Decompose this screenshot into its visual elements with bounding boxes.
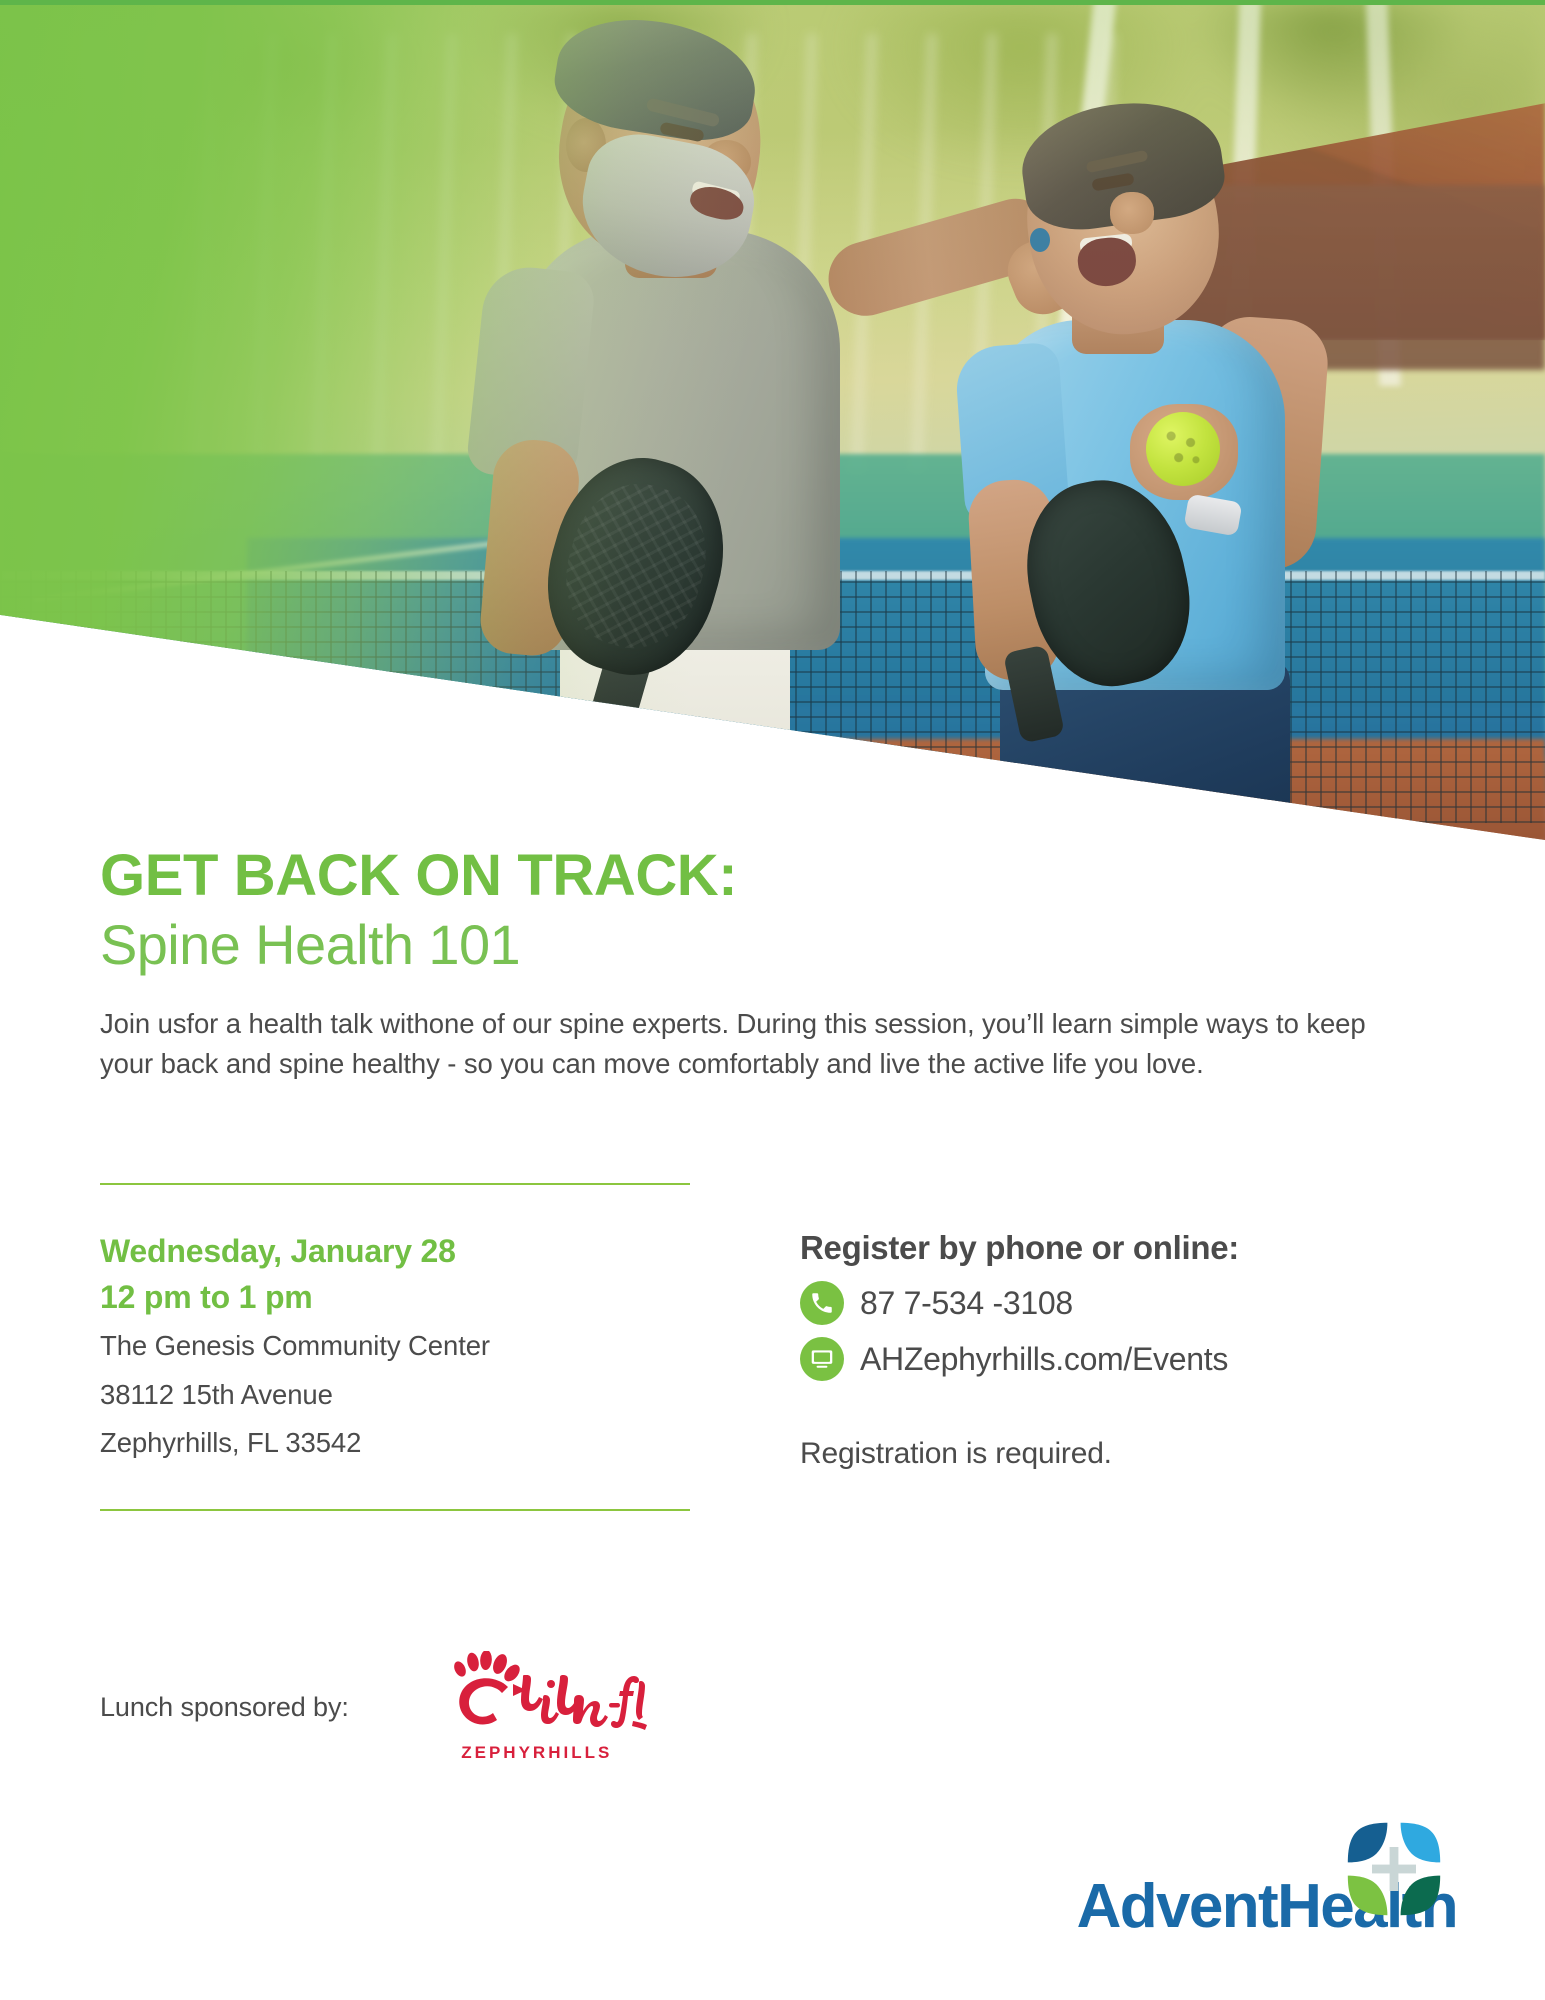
register-phone-row[interactable]: 87 7-534 -3108 [800,1281,1545,1325]
details-columns: Wednesday, January 28 12 pm to 1 pm The … [0,1229,1545,1471]
page-title: GET BACK ON TRACK: [100,820,1445,905]
adventhealth-logo: AdventHealth [1077,1876,1457,1938]
event-street: 38112 15th Avenue [100,1373,760,1418]
hero-photo [0,0,1545,840]
register-website-url[interactable]: AHZephyrhills.com/Events [860,1341,1228,1378]
event-date: Wednesday, January 28 [100,1229,760,1274]
registration-details: Register by phone or online: 87 7-534 -3… [760,1229,1545,1471]
sponsor-label: Lunch sponsored by: [100,1692,349,1723]
chick-fil-a-logo: ZEPHYRHILLS [427,1651,647,1763]
flyer-page: GET BACK ON TRACK: Spine Health 101 Join… [0,0,1545,2000]
description-paragraph: Join usfor a health talk withone of our … [100,1004,1420,1084]
content-area: GET BACK ON TRACK: Spine Health 101 Join… [0,820,1545,1763]
sponsor-section: Lunch sponsored by: [0,1651,1545,1763]
hero-image [0,0,1545,840]
register-website-row[interactable]: AHZephyrhills.com/Events [800,1337,1545,1381]
divider-bottom [100,1509,690,1511]
monitor-icon [800,1337,844,1381]
event-venue: The Genesis Community Center [100,1324,760,1369]
divider-top [100,1183,690,1185]
woman-nose [1110,192,1154,234]
hero-top-rule [0,0,1545,5]
registration-required-note: Registration is required. [800,1437,1545,1471]
adventhealth-pinwheel-icon [1339,1814,1449,1924]
adventhealth-name-advent: Advent [1077,1872,1278,1941]
event-details: Wednesday, January 28 12 pm to 1 pm The … [0,1229,760,1471]
page-subtitle: Spine Health 101 [100,915,1445,975]
register-phone-number[interactable]: 87 7-534 -3108 [860,1285,1073,1322]
sponsor-city: ZEPHYRHILLS [461,1743,612,1762]
pickleball-ball [1146,412,1220,486]
register-heading: Register by phone or online: [800,1229,1545,1267]
woman-earring [1030,228,1050,252]
event-city-state-zip: Zephyrhills, FL 33542 [100,1421,760,1466]
event-time: 12 pm to 1 pm [100,1275,760,1320]
phone-icon [800,1281,844,1325]
